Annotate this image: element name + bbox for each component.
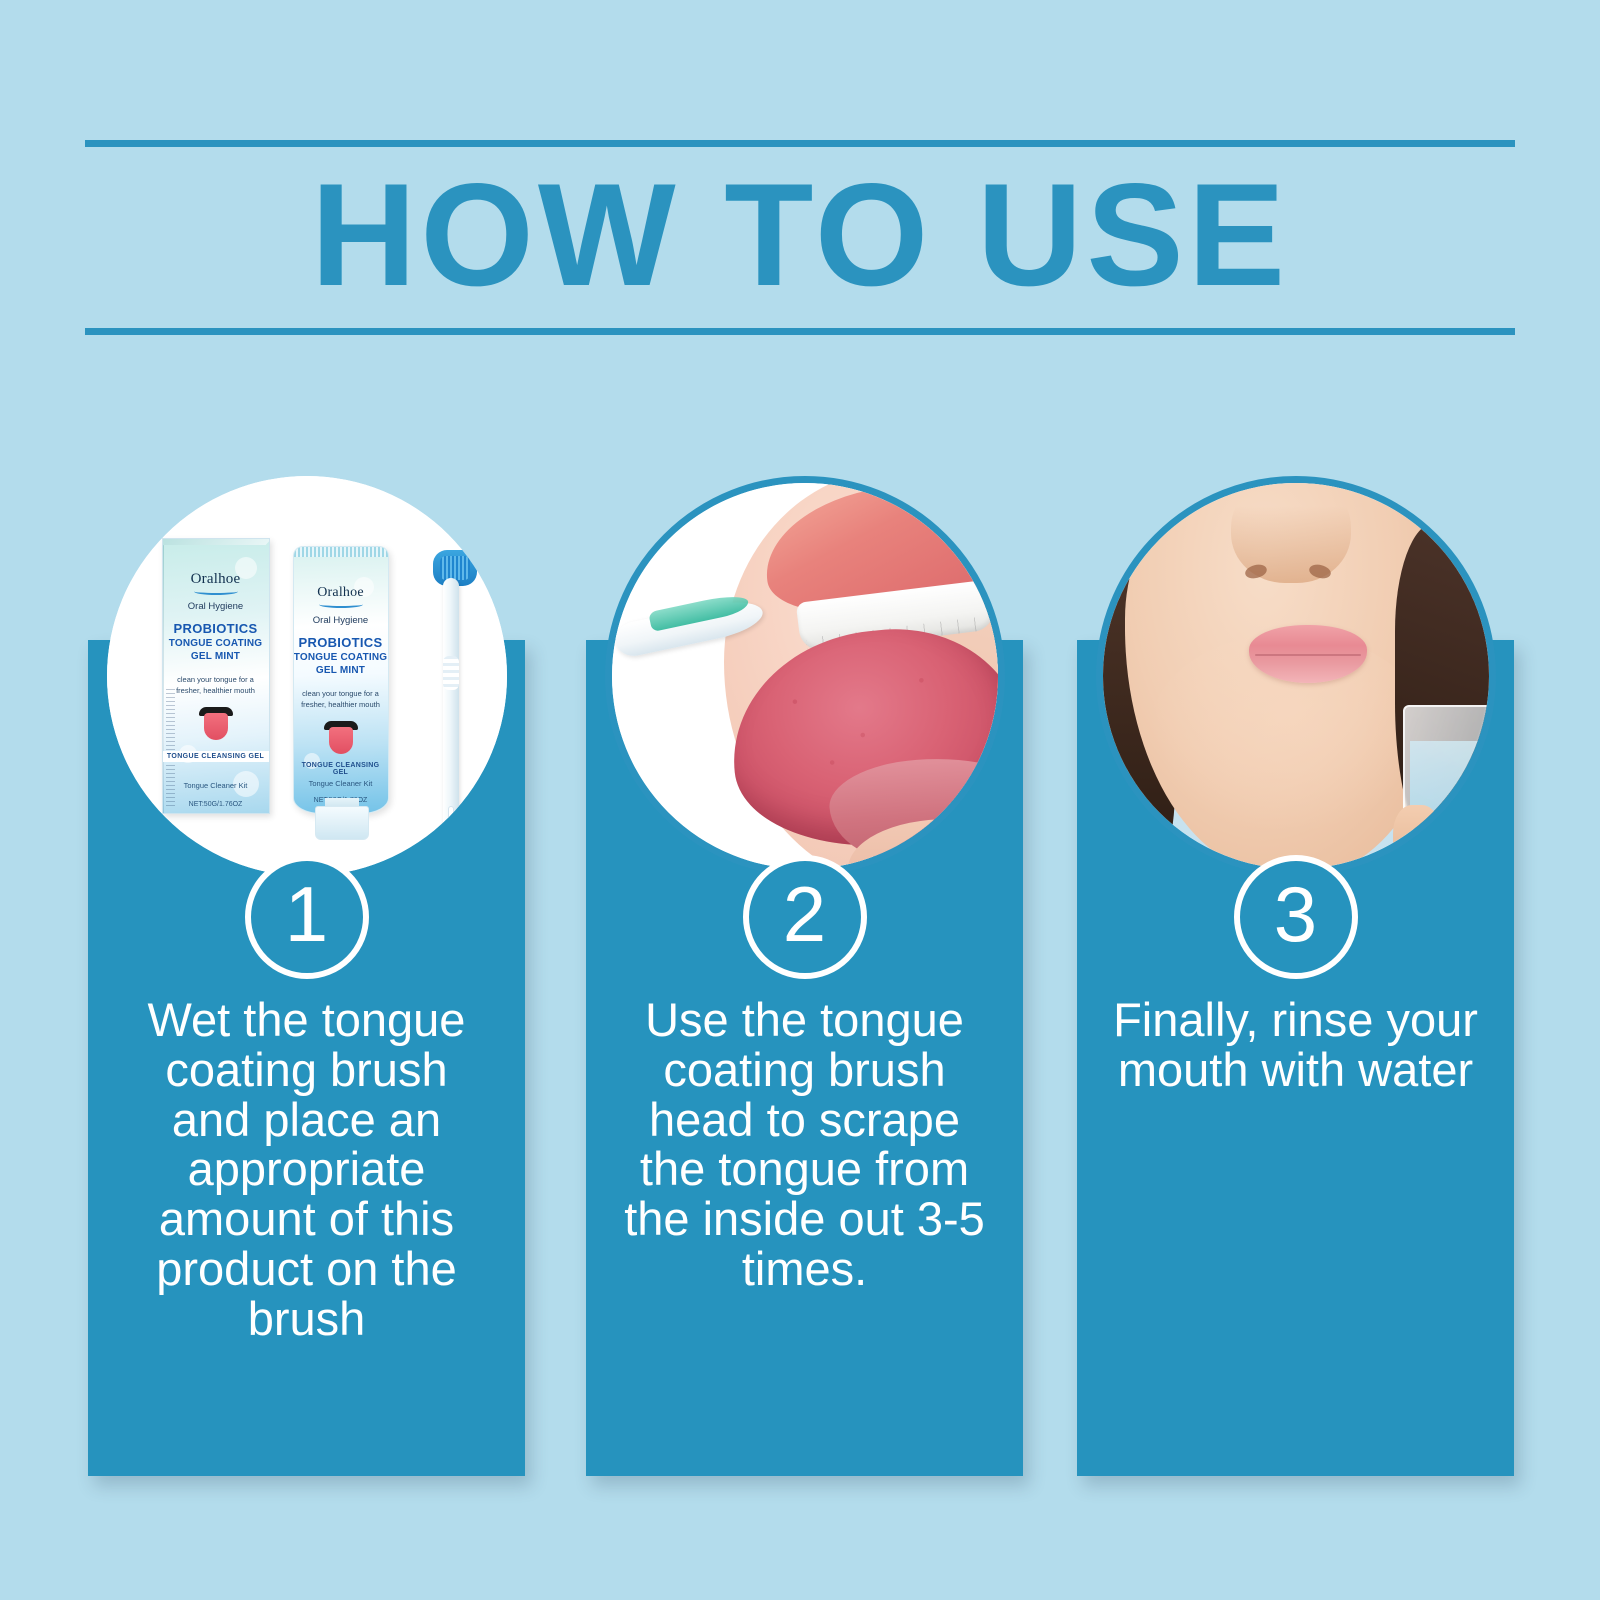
brush-handle	[443, 578, 459, 836]
pursed-lips	[1249, 625, 1367, 683]
carton-top-face	[162, 538, 270, 545]
carton-subhead-2: GEL MINT	[163, 651, 269, 662]
brand-swoosh-icon	[194, 588, 238, 595]
step-card-2: 2 Use the tongue coating brush head to s…	[586, 640, 1023, 1476]
product-tube: Oralhoe Oral Hygiene PROBIOTICS TONGUE C…	[293, 546, 389, 814]
tube-headline: PROBIOTICS	[294, 635, 388, 650]
step-2-photo	[605, 476, 1005, 876]
carton-brand: Oralhoe	[163, 571, 269, 588]
brush-hang-hole	[448, 806, 454, 822]
step-number-1: 1	[285, 875, 328, 953]
step-caption-2: Use the tongue coating brush head to scr…	[600, 995, 1009, 1294]
step-badge-3: 3	[1234, 855, 1358, 979]
brush-grip	[443, 656, 459, 690]
tube-kit-text: Tongue Cleaner Kit	[294, 779, 388, 788]
carton-headline: PROBIOTICS	[163, 621, 269, 636]
steps-container: Oralhoe Oral Hygiene PROBIOTICS TONGUE C…	[0, 0, 1600, 1600]
tongue-brush	[419, 548, 485, 838]
step-badge-1: 1	[245, 855, 369, 979]
carton-tagline-1: clean your tongue for a	[163, 675, 269, 685]
step-number-3: 3	[1274, 875, 1317, 953]
tube-band: TONGUE CLEANSING GEL	[294, 762, 388, 776]
tube-tagline-2: fresher, healthier mouth	[294, 700, 388, 710]
tongue-icon	[324, 721, 358, 755]
brand-swoosh-icon	[319, 601, 363, 608]
tube-tagline-1: clean your tongue for a	[294, 689, 388, 699]
carton-line: Oral Hygiene	[163, 601, 269, 612]
step-card-3: 3 Finally, rinse your mouth with water	[1077, 640, 1514, 1476]
step-badge-2: 2	[743, 855, 867, 979]
tongue-icon-body	[329, 727, 353, 754]
rinsing-mouth-illustration	[1103, 483, 1489, 869]
step-1-photo: Oralhoe Oral Hygiene PROBIOTICS TONGUE C…	[107, 476, 507, 876]
carton-tagline-2: fresher, healthier mouth	[163, 686, 269, 696]
finger	[1439, 819, 1485, 869]
carton-kit-text: Tongue Cleaner Kit	[163, 781, 269, 790]
tube-subhead-1: TONGUE COATING	[294, 652, 388, 663]
tube-brand: Oralhoe	[294, 585, 388, 601]
tongue-icon-body	[204, 713, 228, 740]
tongue-scraping-illustration	[612, 483, 998, 869]
step-card-1: Oralhoe Oral Hygiene PROBIOTICS TONGUE C…	[88, 640, 525, 1476]
tube-crimp	[294, 547, 388, 557]
carton-subhead-1: TONGUE COATING	[163, 638, 269, 649]
step-3-photo	[1096, 476, 1496, 876]
brush-head-pad	[440, 556, 470, 580]
product-kit-illustration: Oralhoe Oral Hygiene PROBIOTICS TONGUE C…	[107, 476, 507, 876]
tube-cap	[315, 806, 369, 840]
tube-line: Oral Hygiene	[294, 615, 388, 626]
finger	[1393, 805, 1441, 869]
tongue-icon	[199, 707, 233, 741]
carton-net-weight: NET:50G/1.76OZ	[163, 801, 269, 808]
product-carton: Oralhoe Oral Hygiene PROBIOTICS TONGUE C…	[162, 538, 270, 814]
step-caption-1: Wet the tongue coating brush and place a…	[102, 995, 511, 1344]
step-caption-3: Finally, rinse your mouth with water	[1091, 995, 1500, 1095]
carton-band: TONGUE CLEANSING GEL	[163, 751, 269, 762]
step-number-2: 2	[783, 875, 826, 953]
tube-subhead-2: GEL MINT	[294, 665, 388, 676]
